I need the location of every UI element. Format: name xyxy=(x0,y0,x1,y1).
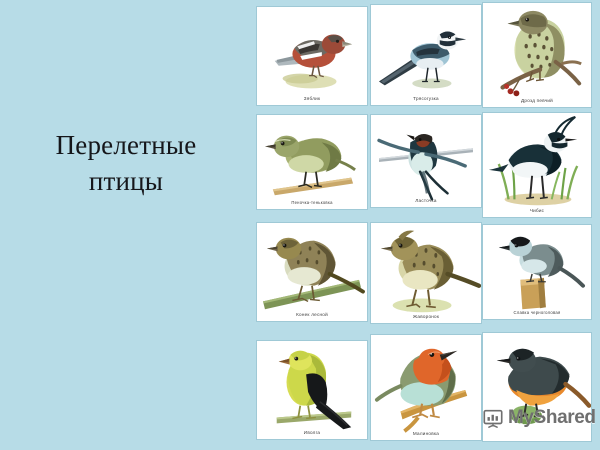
card-row: Иволга xyxy=(256,332,592,445)
card-row: Пеночка-теньковка xyxy=(256,112,592,220)
bird-card-label: Чибис xyxy=(483,208,591,213)
bird-card-label: Ласточка xyxy=(371,198,481,203)
bird-card-redstart[interactable] xyxy=(482,332,592,442)
bird-card-label: Иволга xyxy=(257,430,367,435)
bird-card-label: Пеночка-теньковка xyxy=(257,200,367,205)
card-row: Конек лесной xyxy=(256,222,592,330)
bird-card-oriole[interactable]: Иволга xyxy=(256,340,368,440)
bird-card-label: Жаворонок xyxy=(371,314,481,319)
song-thrush-illustration xyxy=(483,3,591,107)
bird-card-tree-pipit[interactable]: Конек лесной xyxy=(256,222,368,322)
lark-illustration xyxy=(371,223,481,323)
oriole-illustration xyxy=(257,341,367,439)
bird-card-wagtail[interactable]: Трясогузка xyxy=(370,4,482,106)
bird-card-song-thrush[interactable]: Дрозд певчий xyxy=(482,2,592,108)
presentation-slide: Перелетные птицы xyxy=(0,0,600,450)
bird-card-robin[interactable]: Малиновка xyxy=(370,334,482,441)
bird-card-lapwing[interactable]: Чибис xyxy=(482,112,592,218)
bird-card-label: Славка черноголовая xyxy=(483,310,591,315)
bird-card-blackcap[interactable]: Славка черноголовая xyxy=(482,224,592,320)
chaffinch-illustration xyxy=(257,7,367,105)
wagtail-illustration xyxy=(371,5,481,105)
card-row: Зяблик xyxy=(256,2,592,110)
bird-card-swallow[interactable]: Ласточка xyxy=(370,114,482,208)
bird-card-chaffinch[interactable]: Зяблик xyxy=(256,6,368,106)
slide-title-line-2: птицы xyxy=(0,164,252,200)
slide-title-line-1: Перелетные xyxy=(0,128,252,164)
slide-title: Перелетные птицы xyxy=(0,128,252,199)
bird-card-label: Зяблик xyxy=(257,96,367,101)
bird-card-lark[interactable]: Жаворонок xyxy=(370,222,482,324)
robin-illustration xyxy=(371,335,481,440)
blackcap-illustration xyxy=(483,225,591,319)
bird-card-label: Дрозд певчий xyxy=(483,98,591,103)
redstart-illustration xyxy=(483,333,591,441)
bird-card-chiffchaff[interactable]: Пеночка-теньковка xyxy=(256,114,368,210)
swallow-illustration xyxy=(371,115,481,207)
bird-card-label: Конек лесной xyxy=(257,312,367,317)
bird-card-grid: Зяблик xyxy=(256,2,592,445)
bird-card-label: Малиновка xyxy=(371,431,481,436)
chiffchaff-illustration xyxy=(257,115,367,209)
bird-card-label: Трясогузка xyxy=(371,96,481,101)
tree-pipit-illustration xyxy=(257,223,367,321)
lapwing-illustration xyxy=(483,113,591,217)
